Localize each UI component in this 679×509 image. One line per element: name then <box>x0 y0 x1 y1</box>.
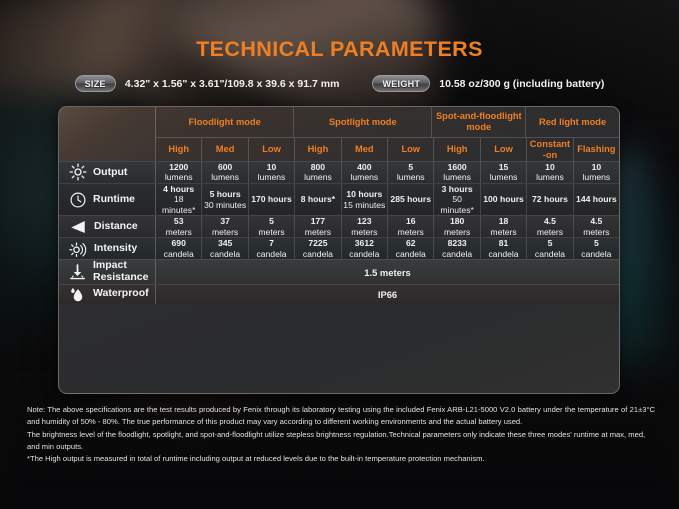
level-header-low: Low <box>388 138 434 161</box>
cell-unit: meters <box>351 227 377 237</box>
cell-unit: meters <box>305 227 331 237</box>
cell-value: 53 <box>174 216 184 226</box>
cell-unit: candela <box>442 249 472 259</box>
clock-icon <box>68 190 87 209</box>
cell-value: 7225 <box>308 238 327 248</box>
mode-group-label: Red light mode <box>539 117 606 128</box>
cell-value: 15 <box>499 162 509 172</box>
level-header-med: Med <box>342 138 388 161</box>
cell-runtime-9: 144 hours <box>574 184 619 215</box>
cell-unit: candela <box>303 249 333 259</box>
mode-group-label: Spotlight mode <box>329 117 397 128</box>
cell-distance-3: 177meters <box>295 216 341 237</box>
table-row-distance: Distance53meters37meters5meters177meters… <box>59 215 619 237</box>
cell-unit: lumens <box>490 172 518 182</box>
row-header-waterproof: Waterproof <box>59 285 156 304</box>
specifications-table: Floodlight modeSpotlight modeSpot-and-fl… <box>58 106 620 394</box>
cell-unit: lumens <box>536 172 564 182</box>
size-value: 4.32" x 1.56" x 3.61"/109.8 x 39.6 x 91.… <box>125 78 340 90</box>
mode-group-label: Spot-and-floodlight mode <box>434 111 523 132</box>
cell-value: 170 hours <box>251 194 292 204</box>
cell-runtime-2: 170 hours <box>249 184 295 215</box>
footnote-line-2: The brightness level of the floodlight, … <box>27 429 655 454</box>
cell-unit: meters <box>212 227 238 237</box>
cell-distance-8: 4.5meters <box>527 216 573 237</box>
cell-output-7: 15lumens <box>481 162 527 183</box>
row-label: Output <box>93 167 127 179</box>
cell-output-4: 400lumens <box>342 162 388 183</box>
cell-unit: lumens <box>304 172 332 182</box>
cell-unit: meters <box>398 227 424 237</box>
level-header-constant-on: Constant -on <box>527 138 573 161</box>
cell-unit: lumens <box>350 172 378 182</box>
level-header-flashing: Flashing <box>574 138 619 161</box>
cell-value: 5 <box>594 238 599 248</box>
footnote-line-1: Note: The above specifications are the t… <box>27 404 655 429</box>
cell-runtime-6: 3 hours50 minutes* <box>434 184 480 215</box>
cell-value: 72 hours <box>532 194 568 204</box>
cell-distance-6: 180meters <box>434 216 480 237</box>
cell-runtime-3: 8 hours* <box>295 184 341 215</box>
cell-value: 5 <box>548 238 553 248</box>
cell-unit: 15 minutes <box>343 200 385 210</box>
table-header: Floodlight modeSpotlight modeSpot-and-fl… <box>59 107 619 161</box>
mode-group-label: Floodlight mode <box>188 117 260 128</box>
cell-value: 7 <box>269 238 274 248</box>
cell-value: 100 hours <box>483 194 524 204</box>
cell-value: 81 <box>499 238 509 248</box>
cell-unit: meters <box>444 227 470 237</box>
intensity-icon <box>68 239 88 258</box>
cell-output-2: 10lumens <box>249 162 295 183</box>
cell-value: 3612 <box>355 238 374 248</box>
cell-runtime-8: 72 hours <box>527 184 573 215</box>
cell-value: 285 hours <box>390 194 431 204</box>
water-drop-icon <box>68 285 87 304</box>
cell-value: 177 <box>311 216 325 226</box>
table-body: Output1200lumens600lumens10lumens800lume… <box>59 161 619 304</box>
cell-distance-9: 4.5meters <box>574 216 619 237</box>
cell-value: 144 hours <box>576 194 617 204</box>
cell-intensity-4: 3612candela <box>342 238 388 259</box>
cell-value: 1200 <box>169 162 188 172</box>
row-label: Runtime <box>93 194 135 206</box>
mode-group-floodlight-mode: Floodlight mode <box>156 107 294 137</box>
level-header-high: High <box>295 138 341 161</box>
cell-unit: lumens <box>443 172 471 182</box>
cell-distance-2: 5meters <box>249 216 295 237</box>
row-label: Intensity <box>94 243 137 255</box>
cell-value: 4 hours <box>163 184 194 194</box>
cell-value: 5 hours <box>210 189 241 199</box>
cell-intensity-8: 5candela <box>527 238 573 259</box>
table-row-intensity: Intensity690candela345candela7candela722… <box>59 237 619 259</box>
spec-summary: SIZE 4.32" x 1.56" x 3.61"/109.8 x 39.6 … <box>0 75 679 92</box>
row-header-distance: Distance <box>59 216 156 237</box>
cell-intensity-3: 7225candela <box>295 238 341 259</box>
cell-value: 4.5 <box>544 216 556 226</box>
cell-output-5: 5lumens <box>388 162 434 183</box>
row-cells: 690candela345candela7candela7225candela3… <box>156 238 619 259</box>
cell-runtime-1: 5 hours30 minutes <box>202 184 248 215</box>
row-label: Waterproof <box>93 288 149 300</box>
cell-unit: lumens <box>397 172 425 182</box>
cell-unit: candela <box>210 249 240 259</box>
mode-group-row: Floodlight modeSpotlight modeSpot-and-fl… <box>156 107 619 137</box>
cell-value: 8 hours* <box>301 194 335 204</box>
row-header-impact-resistance: Impact Resistance <box>59 260 156 284</box>
row-cells: 1200lumens600lumens10lumens800lumens400l… <box>156 162 619 183</box>
cell-distance-5: 16meters <box>388 216 434 237</box>
row-header-intensity: Intensity <box>59 238 156 259</box>
cell-output-9: 10lumens <box>574 162 619 183</box>
cell-output-3: 800lumens <box>295 162 341 183</box>
row-cells: 4 hours18 minutes*5 hours30 minutes170 h… <box>156 184 619 215</box>
cell-value: 10 hours <box>346 189 382 199</box>
table-row-waterproof: WaterproofIP66 <box>59 284 619 304</box>
cell-output-0: 1200lumens <box>156 162 202 183</box>
cell-output-1: 600lumens <box>202 162 248 183</box>
row-cells: 53meters37meters5meters177meters123meter… <box>156 216 619 237</box>
cell-value: 123 <box>357 216 371 226</box>
cell-value: 5 <box>269 216 274 226</box>
cell-unit: 18 minutes* <box>157 194 200 215</box>
row-header-runtime: Runtime <box>59 184 156 215</box>
level-header-med: Med <box>202 138 248 161</box>
cell-value: 8233 <box>448 238 467 248</box>
cell-runtime-0: 4 hours18 minutes* <box>156 184 202 215</box>
cell-unit: meters <box>490 227 516 237</box>
cell-output-8: 10lumens <box>527 162 573 183</box>
mode-group-spot-and-floodlight-mode: Spot-and-floodlight mode <box>432 107 526 137</box>
cell-unit: 50 minutes* <box>435 194 478 215</box>
beam-icon <box>68 217 88 236</box>
cell-runtime-4: 10 hours15 minutes <box>342 184 388 215</box>
footnote-line-3: *The High output is measured in total of… <box>27 453 655 465</box>
level-row: HighMedLowHighMedLowHighLowConstant -onF… <box>156 137 619 161</box>
mode-group-spotlight-mode: Spotlight mode <box>294 107 432 137</box>
cell-unit: candela <box>349 249 379 259</box>
cell-value: 16 <box>406 216 416 226</box>
level-header-high: High <box>434 138 480 161</box>
cell-unit: meters <box>166 227 192 237</box>
page-title: TECHNICAL PARAMETERS <box>0 37 679 62</box>
cell-output-6: 1600lumens <box>434 162 480 183</box>
cell-intensity-1: 345candela <box>202 238 248 259</box>
cell-unit: candela <box>164 249 194 259</box>
cell-value: 690 <box>172 238 186 248</box>
cell-value: 37 <box>220 216 230 226</box>
table-row-output: Output1200lumens600lumens10lumens800lume… <box>59 161 619 183</box>
impact-icon <box>68 263 87 282</box>
cell-intensity-0: 690candela <box>156 238 202 259</box>
weight-value: 10.58 oz/300 g (including battery) <box>439 78 604 90</box>
cell-value: 3 hours <box>442 184 473 194</box>
cell-intensity-2: 7candela <box>249 238 295 259</box>
table-row-runtime: Runtime4 hours18 minutes*5 hours30 minut… <box>59 183 619 215</box>
cell-value: 10 <box>545 162 555 172</box>
row-label: Impact Resistance <box>93 260 155 284</box>
cell-value: 10 <box>592 162 602 172</box>
cell-runtime-5: 285 hours <box>388 184 434 215</box>
cell-value: 800 <box>311 162 325 172</box>
cell-value: 600 <box>218 162 232 172</box>
cell-intensity-9: 5candela <box>574 238 619 259</box>
cell-unit: candela <box>396 249 426 259</box>
cell-value: 18 <box>499 216 509 226</box>
sun-icon <box>68 163 87 182</box>
cell-unit: candela <box>488 249 518 259</box>
mode-group-red-light-mode: Red light mode <box>526 107 619 137</box>
cell-unit: lumens <box>211 172 239 182</box>
table-header-corner <box>59 107 156 161</box>
cell-unit: meters <box>583 227 609 237</box>
weight-badge: WEIGHT <box>372 75 430 92</box>
cell-value: 62 <box>406 238 416 248</box>
cell-intensity-5: 62candela <box>388 238 434 259</box>
cell-intensity-7: 81candela <box>481 238 527 259</box>
cell-distance-4: 123meters <box>342 216 388 237</box>
level-header-low: Low <box>481 138 527 161</box>
size-badge: SIZE <box>75 75 116 92</box>
cell-unit: meters <box>258 227 284 237</box>
cell-value: 5 <box>408 162 413 172</box>
cell-intensity-6: 8233candela <box>434 238 480 259</box>
row-label: Distance <box>94 221 138 233</box>
cell-value: 4.5 <box>590 216 602 226</box>
cell-waterproof-value: IP66 <box>156 285 619 304</box>
row-header-output: Output <box>59 162 156 183</box>
cell-value: 180 <box>450 216 464 226</box>
cell-unit: candela <box>256 249 286 259</box>
cell-value: 345 <box>218 238 232 248</box>
cell-value: 10 <box>267 162 277 172</box>
cell-unit: lumens <box>165 172 193 182</box>
cell-unit: candela <box>581 249 611 259</box>
cell-unit: candela <box>535 249 565 259</box>
footnotes: Note: The above specifications are the t… <box>27 404 655 465</box>
level-header-low: Low <box>249 138 295 161</box>
cell-distance-7: 18meters <box>481 216 527 237</box>
cell-distance-1: 37meters <box>202 216 248 237</box>
level-header-high: High <box>156 138 202 161</box>
cell-impact-resistance-value: 1.5 meters <box>156 260 619 284</box>
cell-runtime-7: 100 hours <box>481 184 527 215</box>
cell-unit: 30 minutes <box>204 200 246 210</box>
cell-distance-0: 53meters <box>156 216 202 237</box>
table-row-impact-resistance: Impact Resistance1.5 meters <box>59 259 619 284</box>
cell-unit: lumens <box>258 172 286 182</box>
cell-value: 1600 <box>448 162 467 172</box>
cell-unit: lumens <box>583 172 611 182</box>
cell-value: 400 <box>357 162 371 172</box>
cell-unit: meters <box>537 227 563 237</box>
